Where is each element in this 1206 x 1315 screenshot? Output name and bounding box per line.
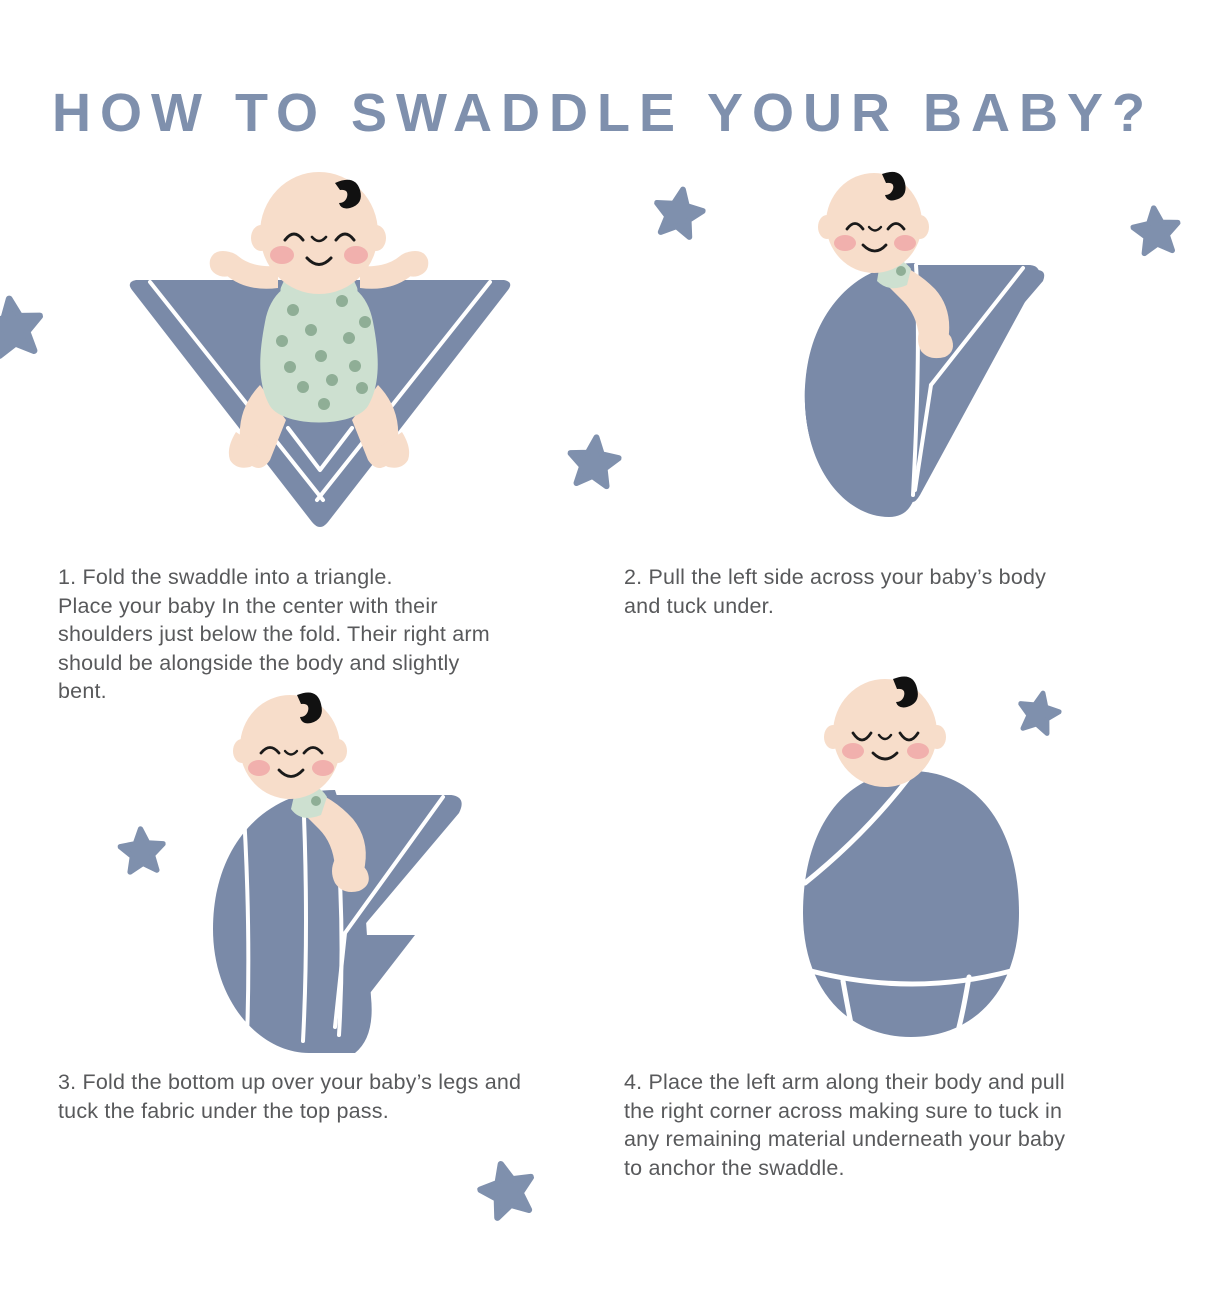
blanket-body-cocoon bbox=[213, 790, 337, 1053]
baby-head bbox=[818, 172, 929, 273]
blanket-left-lobe bbox=[805, 263, 917, 517]
star-upper-right bbox=[1129, 203, 1184, 258]
baby-head bbox=[233, 692, 347, 799]
step-4-caption: 4. Place the left arm along their body a… bbox=[624, 1068, 1164, 1182]
step-1-illustration bbox=[110, 170, 530, 540]
star-upper-middle bbox=[649, 182, 709, 242]
star-left-edge bbox=[0, 291, 48, 361]
step-3-illustration bbox=[185, 685, 505, 1065]
star-left-lower bbox=[116, 824, 167, 875]
step-2-caption: 2. Pull the left side across your baby’s… bbox=[624, 563, 1144, 620]
step-4-illustration bbox=[785, 675, 1035, 1050]
step-1-caption: 1. Fold the swaddle into a triangle. Pla… bbox=[58, 563, 578, 706]
star-center bbox=[564, 431, 623, 490]
step-3-caption: 3. Fold the bottom up over your baby’s l… bbox=[58, 1068, 588, 1125]
onesie-dot bbox=[896, 266, 906, 276]
onesie-dot bbox=[311, 796, 321, 806]
star-bottom-center bbox=[472, 1154, 542, 1224]
step-2-illustration bbox=[785, 165, 1085, 555]
swaddled-cocoon bbox=[803, 771, 1019, 1037]
baby-head bbox=[824, 676, 946, 787]
page-title: HOW TO SWADDLE YOUR BABY? bbox=[0, 82, 1206, 144]
infographic-page: HOW TO SWADDLE YOUR BABY? bbox=[0, 0, 1206, 1315]
